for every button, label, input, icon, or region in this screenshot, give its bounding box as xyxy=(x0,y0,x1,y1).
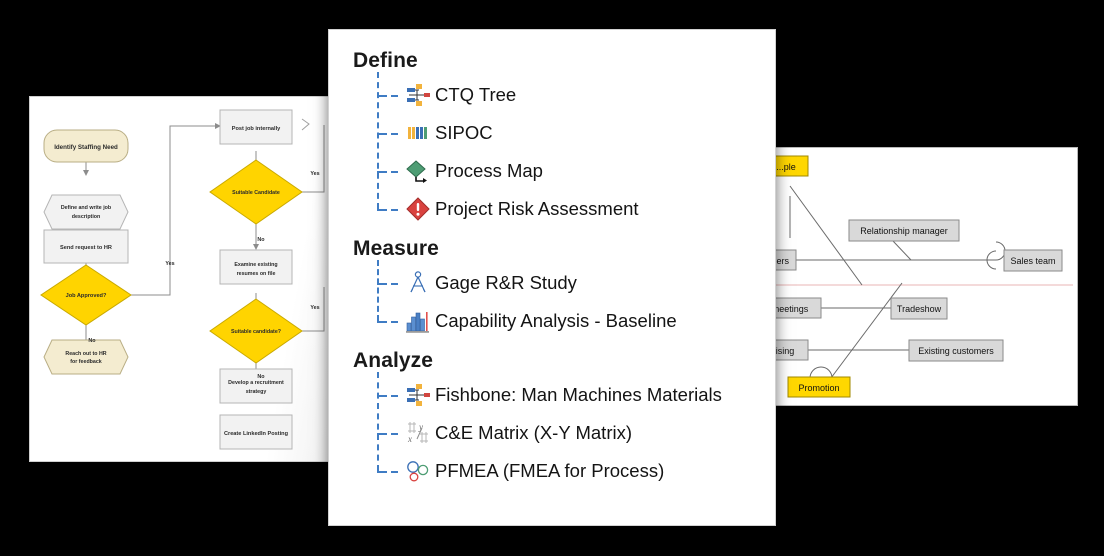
node-label: Post job internally xyxy=(232,126,281,132)
toolbox-group-define: Define CTQ Tree xyxy=(353,48,755,228)
edge-label-yes: Yes xyxy=(310,171,319,177)
fishbone-canvas: ...ple ...ers ...on meetings ...ertising… xyxy=(776,148,1078,406)
fishbone-box: Relationship manager xyxy=(849,220,959,241)
flowchart-canvas: Identify Staffing Need Define and write … xyxy=(30,97,351,462)
toolbox-item-label: Capability Analysis - Baseline xyxy=(435,310,677,332)
svg-text:Define and write job: Define and write job xyxy=(61,205,112,211)
pfmea-circles-icon xyxy=(405,458,431,484)
toolbox-item-pfmea[interactable]: PFMEA (FMEA for Process) xyxy=(353,452,755,490)
fishbone-panel[interactable]: ...ple ...ers ...on meetings ...ertising… xyxy=(775,147,1078,406)
fishbone-tree-icon xyxy=(405,382,431,408)
box-label: Sales team xyxy=(1010,256,1055,266)
histogram-icon xyxy=(405,308,431,334)
node-label: Job Approved? xyxy=(66,293,107,299)
box-label: Existing customers xyxy=(918,346,994,356)
toolbox-item-label: CTQ Tree xyxy=(435,84,516,106)
box-label: Tradeshow xyxy=(897,304,942,314)
edge-label-no: No xyxy=(88,338,96,344)
box-label: Relationship manager xyxy=(860,226,948,236)
svg-text:resumes on file: resumes on file xyxy=(237,271,276,277)
node-label: Create LinkedIn Posting xyxy=(224,431,289,437)
toolbox-item-ce-matrix[interactable]: y x C&E Matrix (X-Y Matrix) xyxy=(353,414,755,452)
box-label: ...ertising xyxy=(776,346,794,356)
edge-label-no: No xyxy=(257,374,265,380)
toolbox-item-label: Project Risk Assessment xyxy=(435,198,639,220)
group-items-analyze: Fishbone: Man Machines Materials y x C&E… xyxy=(353,376,755,490)
node-label: Send request to HR xyxy=(60,245,112,251)
svg-text:description: description xyxy=(72,214,101,220)
fishbone-box: Sales team xyxy=(1004,250,1062,271)
toolbox-item-label: Process Map xyxy=(435,160,543,182)
svg-text:Reach out to HR: Reach out to HR xyxy=(65,351,106,357)
toolbox-item-sipoc[interactable]: SIPOC xyxy=(353,114,755,152)
svg-text:x: x xyxy=(407,434,412,444)
process-map-diamond-icon xyxy=(405,158,431,184)
box-label: ...ers xyxy=(776,256,789,266)
sipoc-bars-icon xyxy=(405,120,431,146)
flowchart-panel[interactable]: Identify Staffing Need Define and write … xyxy=(29,96,351,462)
edge-label-yes: Yes xyxy=(310,305,319,311)
fishbone-box: ...on meetings xyxy=(776,298,821,318)
toolbox-item-label: C&E Matrix (X-Y Matrix) xyxy=(435,422,632,444)
toolbox-group-measure: Measure Gage R&R Study xyxy=(353,236,755,340)
fishbone-box: Existing customers xyxy=(909,340,1003,361)
box-label: ...ple xyxy=(776,162,796,172)
svg-text:Develop a recruitment: Develop a recruitment xyxy=(228,380,284,386)
ctq-tree-icon xyxy=(405,82,431,108)
edge-label-no: No xyxy=(257,237,265,243)
svg-text:strategy: strategy xyxy=(246,389,267,395)
toolbox-panel[interactable]: Define CTQ Tree xyxy=(328,29,776,526)
toolbox-item-project-risk-assessment[interactable]: Project Risk Assessment xyxy=(353,190,755,228)
node-label: Suitable Candidate xyxy=(232,190,280,196)
compass-divider-icon xyxy=(405,270,431,296)
toolbox-item-label: Fishbone: Man Machines Materials xyxy=(435,384,722,406)
svg-text:Examine existing: Examine existing xyxy=(234,262,277,268)
edge-label-yes: Yes xyxy=(165,261,174,267)
toolbox-item-capability-analysis-baseline[interactable]: Capability Analysis - Baseline xyxy=(353,302,755,340)
node-label: Identify Staffing Need xyxy=(54,144,118,151)
toolbox-item-gage-rr-study[interactable]: Gage R&R Study xyxy=(353,264,755,302)
fishbone-box: ...ple xyxy=(776,156,808,176)
toolbox-item-label: PFMEA (FMEA for Process) xyxy=(435,460,664,482)
node-label: Suitable candidate? xyxy=(231,329,281,335)
box-label: Promotion xyxy=(798,383,839,393)
group-header-measure: Measure xyxy=(353,236,755,262)
risk-warning-diamond-icon xyxy=(405,196,431,222)
toolbox-item-label: Gage R&R Study xyxy=(435,272,577,294)
toolbox-group-analyze: Analyze Fishbone: Man Machines Materials xyxy=(353,348,755,490)
group-header-analyze: Analyze xyxy=(353,348,755,374)
group-items-define: CTQ Tree SIPOC xyxy=(353,76,755,228)
toolbox-item-fishbone[interactable]: Fishbone: Man Machines Materials xyxy=(353,376,755,414)
toolbox-item-process-map[interactable]: Process Map xyxy=(353,152,755,190)
box-label: ...on meetings xyxy=(776,304,809,314)
group-header-define: Define xyxy=(353,48,755,74)
fishbone-box: ...ers xyxy=(776,250,796,270)
fishbone-box: Promotion xyxy=(788,377,850,397)
group-items-measure: Gage R&R Study Capability Analysis - Bas… xyxy=(353,264,755,340)
fishbone-box: ...ertising xyxy=(776,340,808,360)
toolbox-item-ctq-tree[interactable]: CTQ Tree xyxy=(353,76,755,114)
fishbone-box: Tradeshow xyxy=(891,298,947,319)
svg-text:for feedback: for feedback xyxy=(70,359,102,365)
xy-matrix-icon: y x xyxy=(405,420,431,446)
toolbox-item-label: SIPOC xyxy=(435,122,493,144)
